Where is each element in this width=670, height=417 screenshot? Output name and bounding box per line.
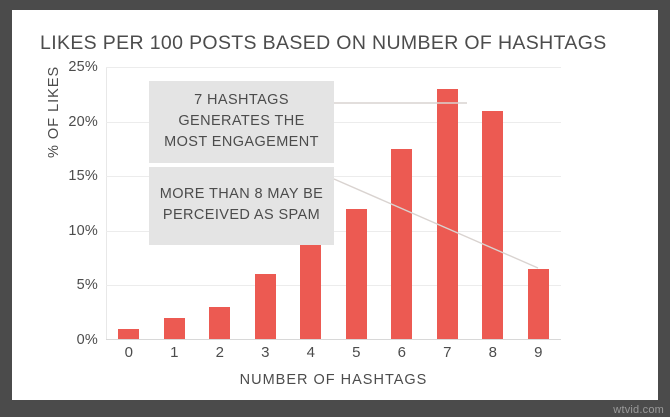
x-axis-title: NUMBER OF HASHTAGS — [106, 372, 561, 388]
y-axis-tick-label: 10% — [42, 223, 98, 239]
image-frame: LIKES PER 100 POSTS BASED ON NUMBER OF H… — [0, 0, 670, 417]
bar — [164, 318, 185, 340]
annotation-line: GENERATES THE — [159, 111, 324, 132]
chart-card: LIKES PER 100 POSTS BASED ON NUMBER OF H… — [12, 10, 658, 400]
bar — [482, 111, 503, 340]
y-axis-tick-label: 5% — [42, 277, 98, 293]
bar — [209, 307, 230, 340]
x-axis-tick-label: 8 — [473, 344, 513, 361]
x-axis-tick-label: 1 — [154, 344, 194, 361]
annotation-line: MOST ENGAGEMENT — [159, 132, 324, 153]
bar — [255, 274, 276, 340]
annotation-line: MORE THAN 8 MAY BE — [157, 184, 326, 205]
x-axis-tick-label: 7 — [427, 344, 467, 361]
y-axis-ticks: 0%5%10%15%20%25% — [34, 67, 98, 340]
x-axis-tick-label: 2 — [200, 344, 240, 361]
x-axis-tick-label: 9 — [518, 344, 558, 361]
bar — [300, 242, 321, 340]
chart-title: LIKES PER 100 POSTS BASED ON NUMBER OF H… — [40, 32, 607, 55]
bar — [346, 209, 367, 340]
x-axis-tick-label: 3 — [245, 344, 285, 361]
annotation-line: PERCEIVED AS SPAM — [157, 205, 326, 226]
annotation-callout-most-engagement: 7 HASHTAGSGENERATES THEMOST ENGAGEMENT — [149, 81, 334, 163]
annotation-callout-spam: MORE THAN 8 MAY BEPERCEIVED AS SPAM — [149, 167, 334, 245]
bar — [437, 89, 458, 340]
bar — [528, 269, 549, 340]
y-axis-tick-label: 25% — [42, 59, 98, 75]
x-axis-tick-label: 6 — [382, 344, 422, 361]
x-axis-tick-label: 0 — [109, 344, 149, 361]
x-axis-tick-label: 5 — [336, 344, 376, 361]
y-axis-tick-label: 0% — [42, 332, 98, 348]
y-axis-tick-label: 15% — [42, 168, 98, 184]
x-axis-ticks: 0123456789 — [106, 344, 561, 368]
bar — [391, 149, 412, 340]
y-axis-tick-label: 20% — [42, 114, 98, 130]
annotation-line: 7 HASHTAGS — [159, 90, 324, 111]
x-axis-line — [106, 339, 561, 340]
x-axis-tick-label: 4 — [291, 344, 331, 361]
watermark: wtvid.com — [613, 404, 664, 416]
